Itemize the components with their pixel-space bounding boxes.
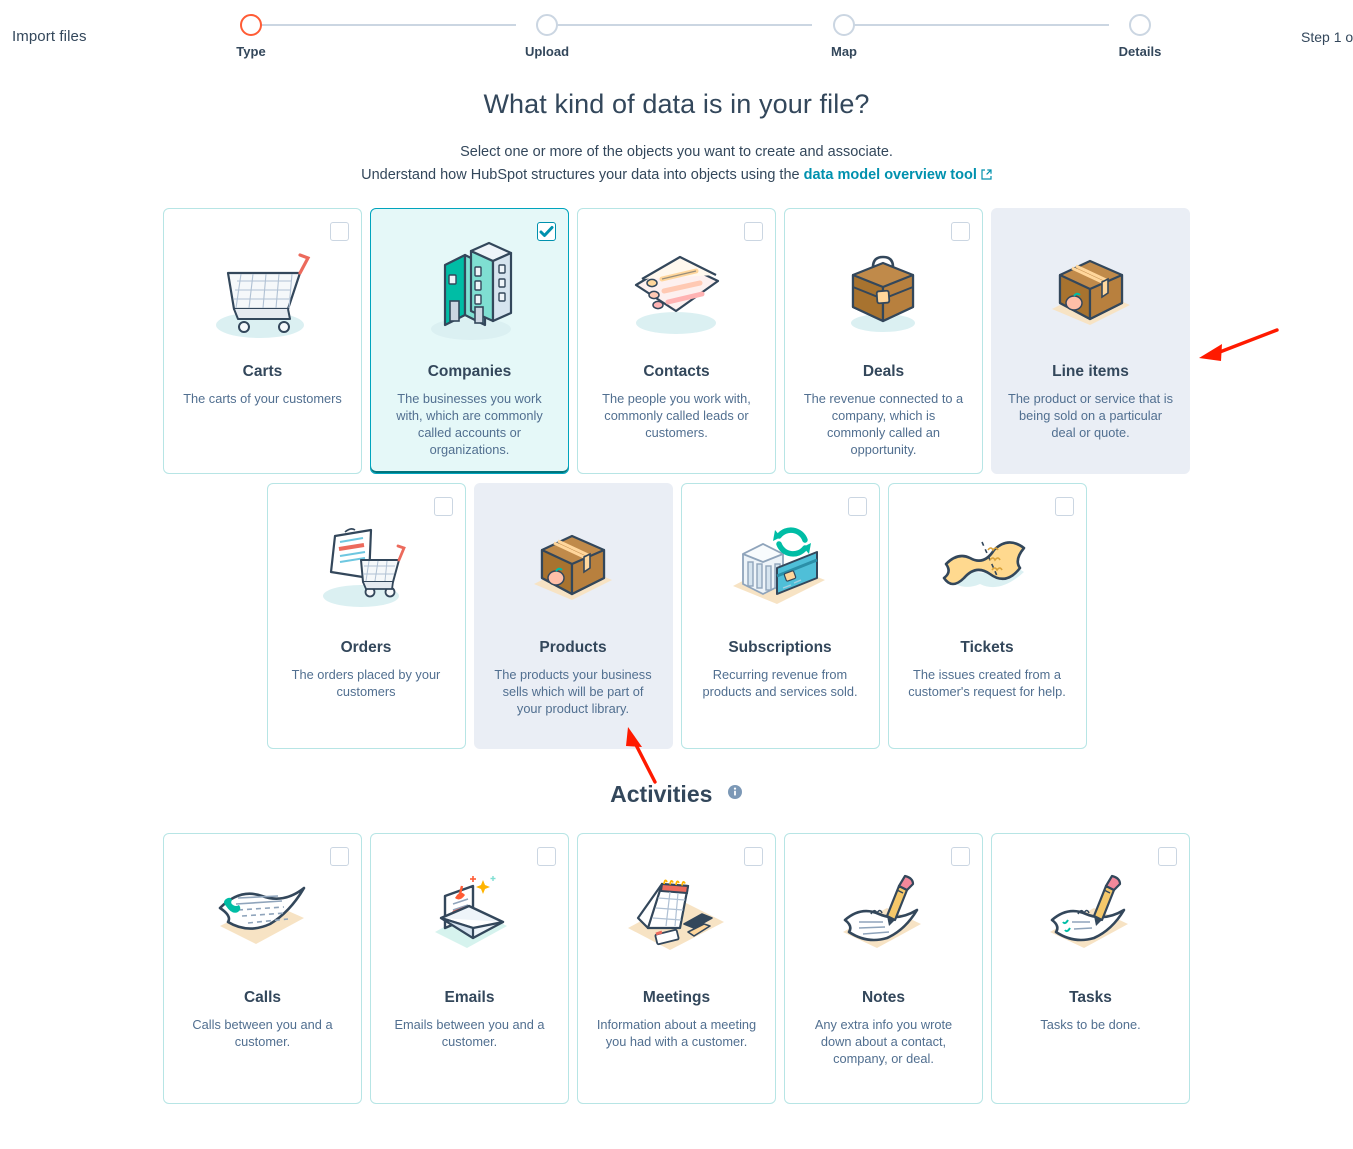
stepper-dot-upload [536, 14, 558, 36]
breadcrumb-import-files: Import files [12, 28, 87, 45]
object-card-deals[interactable]: Deals The revenue connected to a company… [784, 208, 983, 474]
object-card-products[interactable]: Products The products your business sell… [474, 483, 673, 749]
call-note-icon [176, 858, 349, 978]
object-card-description: The people you work with, commonly calle… [590, 390, 763, 441]
info-circle-icon[interactable] [727, 784, 743, 805]
object-card-title: Tickets [901, 639, 1074, 657]
checkbox-deals[interactable] [951, 222, 970, 241]
object-card-title: Calls [176, 989, 349, 1007]
contact-list-icon [590, 233, 763, 353]
object-card-calls[interactable]: Calls Calls between you and a customer. [163, 833, 362, 1104]
stepper-step-details[interactable]: Details [1080, 14, 1200, 59]
object-card-description: Emails between you and a customer. [383, 1016, 556, 1050]
object-card-line-items[interactable]: Line items The product or service that i… [991, 208, 1190, 474]
checkbox-emails[interactable] [537, 847, 556, 866]
object-cards-row-1: Carts The carts of your customers [0, 208, 1353, 474]
object-card-title: Notes [797, 989, 970, 1007]
email-envelope-icon [383, 858, 556, 978]
note-pencil-icon [797, 858, 970, 978]
calendar-desk-icon [590, 858, 763, 978]
stepper-label-type: Type [191, 44, 311, 59]
object-card-description: The product or service that is being sol… [1004, 390, 1177, 441]
object-card-title: Line items [1004, 363, 1177, 381]
object-card-description: The businesses you work with, which are … [383, 390, 556, 458]
object-card-description: The products your business sells which w… [487, 666, 660, 717]
checkbox-subscriptions[interactable] [848, 497, 867, 516]
progress-stepper: Type Upload Map Details [220, 14, 1200, 64]
checkbox-carts[interactable] [330, 222, 349, 241]
office-building-icon [383, 233, 556, 353]
stepper-dot-map [833, 14, 855, 36]
object-card-title: Subscriptions [694, 639, 867, 657]
object-card-subscriptions[interactable]: Subscriptions Recurring revenue from pro… [681, 483, 880, 749]
object-card-description: Recurring revenue from products and serv… [694, 666, 867, 700]
intro-subtitle-text: Understand how HubSpot structures your d… [361, 167, 804, 183]
stepper-dot-type [240, 14, 262, 36]
checkbox-calls[interactable] [330, 847, 349, 866]
object-card-description: Information about a meeting you had with… [590, 1016, 763, 1050]
stepper-label-details: Details [1080, 44, 1200, 59]
object-card-description: Calls between you and a customer. [176, 1016, 349, 1050]
data-model-overview-link-label: data model overview tool [804, 167, 977, 183]
object-card-description: The carts of your customers [176, 390, 349, 407]
intro-subtitle-secondary: Understand how HubSpot structures your d… [0, 167, 1353, 184]
object-card-emails[interactable]: Emails Emails between you and a customer… [370, 833, 569, 1104]
stepper-step-upload[interactable]: Upload [487, 14, 607, 59]
object-card-description: Tasks to be done. [1004, 1016, 1177, 1033]
object-card-title: Companies [383, 363, 556, 381]
checkbox-orders[interactable] [434, 497, 453, 516]
checkbox-tickets[interactable] [1055, 497, 1074, 516]
activity-cards-row: Calls Calls between you and a customer. [0, 833, 1353, 1104]
wizard-header: Import files Type Upload Map Details Ste… [0, 0, 1353, 72]
object-card-description: The revenue connected to a company, whic… [797, 390, 970, 458]
object-card-description: Any extra info you wrote down about a co… [797, 1016, 970, 1067]
step-counter: Step 1 o [1301, 29, 1353, 45]
object-card-title: Deals [797, 363, 970, 381]
package-box-icon [487, 508, 660, 628]
activities-section-header: Activities [0, 781, 1353, 808]
shopping-cart-icon [176, 233, 349, 353]
object-card-meetings[interactable]: Meetings Information about a meeting you… [577, 833, 776, 1104]
page-title: What kind of data is in your file? [0, 89, 1353, 120]
intro-subtitle-primary: Select one or more of the objects you wa… [0, 144, 1353, 160]
object-cards-row-2: Orders The orders placed by your custome… [0, 483, 1353, 749]
package-box-icon [1004, 233, 1177, 353]
object-card-title: Tasks [1004, 989, 1177, 1007]
object-card-title: Contacts [590, 363, 763, 381]
object-card-tasks[interactable]: Tasks Tasks to be done. [991, 833, 1190, 1104]
object-card-contacts[interactable]: Contacts The people you work with, commo… [577, 208, 776, 474]
checkbox-companies[interactable] [537, 222, 556, 241]
checkbox-notes[interactable] [951, 847, 970, 866]
object-card-notes[interactable]: Notes Any extra info you wrote down abou… [784, 833, 983, 1104]
stepper-step-type[interactable]: Type [191, 14, 311, 59]
task-checklist-pencil-icon [1004, 858, 1177, 978]
object-card-description: The issues created from a customer's req… [901, 666, 1074, 700]
object-card-carts[interactable]: Carts The carts of your customers [163, 208, 362, 474]
data-model-overview-link[interactable]: data model overview tool [804, 167, 977, 183]
stepper-label-map: Map [784, 44, 904, 59]
ticket-icon [901, 508, 1074, 628]
object-card-title: Meetings [590, 989, 763, 1007]
stepper-dot-details [1129, 14, 1151, 36]
external-link-icon [981, 168, 992, 184]
object-card-title: Carts [176, 363, 349, 381]
object-card-title: Emails [383, 989, 556, 1007]
stepper-label-upload: Upload [487, 44, 607, 59]
object-card-title: Orders [280, 639, 453, 657]
order-receipt-cart-icon [280, 508, 453, 628]
checkbox-contacts[interactable] [744, 222, 763, 241]
object-card-title: Products [487, 639, 660, 657]
intro-block: What kind of data is in your file? Selec… [0, 89, 1353, 184]
object-card-description: The orders placed by your customers [280, 666, 453, 700]
briefcase-icon [797, 233, 970, 353]
stepper-step-map[interactable]: Map [784, 14, 904, 59]
object-card-tickets[interactable]: Tickets The issues created from a custom… [888, 483, 1087, 749]
activities-title: Activities [610, 781, 712, 808]
object-card-orders[interactable]: Orders The orders placed by your custome… [267, 483, 466, 749]
checkbox-meetings[interactable] [744, 847, 763, 866]
recurring-payment-icon [694, 508, 867, 628]
checkbox-tasks[interactable] [1158, 847, 1177, 866]
object-card-companies[interactable]: Companies The businesses you work with, … [370, 208, 569, 474]
